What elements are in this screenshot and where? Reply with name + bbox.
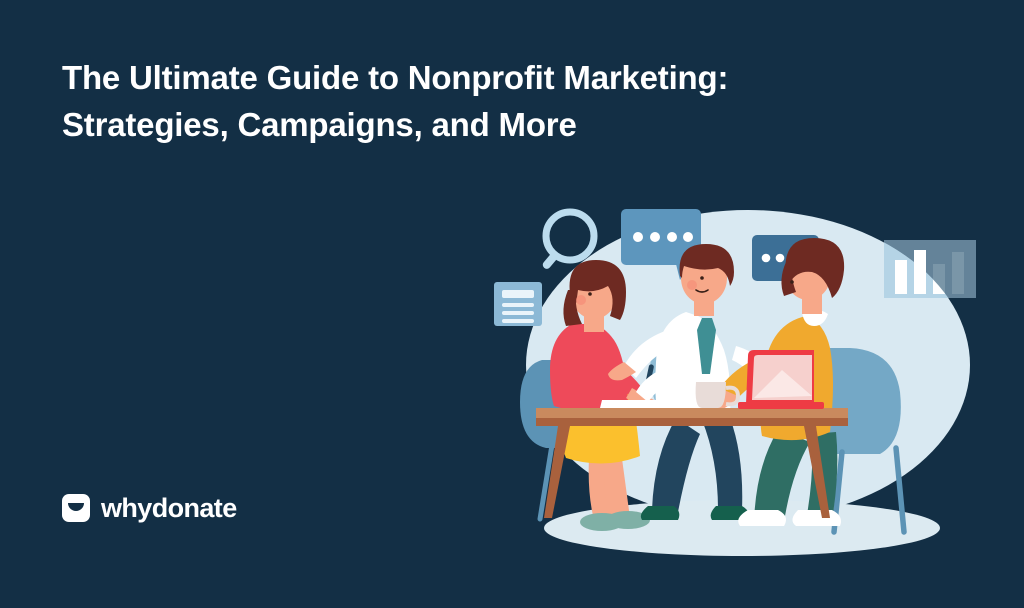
paper-sheet — [600, 400, 672, 408]
page-title: The Ultimate Guide to Nonprofit Marketin… — [62, 55, 822, 149]
whydonate-bowl-icon — [62, 494, 90, 522]
document-card — [494, 282, 542, 326]
brand-logo[interactable]: whydonate — [62, 494, 237, 522]
page-title-line-1: The Ultimate Guide to Nonprofit Marketin… — [62, 55, 822, 102]
laptop — [738, 350, 824, 409]
page-title-line-2: Strategies, Campaigns, and More — [62, 102, 822, 149]
brand-name: whydonate — [101, 495, 237, 522]
banner-root: The Ultimate Guide to Nonprofit Marketin… — [0, 0, 1024, 608]
bar-chart-card — [884, 240, 976, 298]
team-meeting-illustration — [480, 190, 1000, 590]
